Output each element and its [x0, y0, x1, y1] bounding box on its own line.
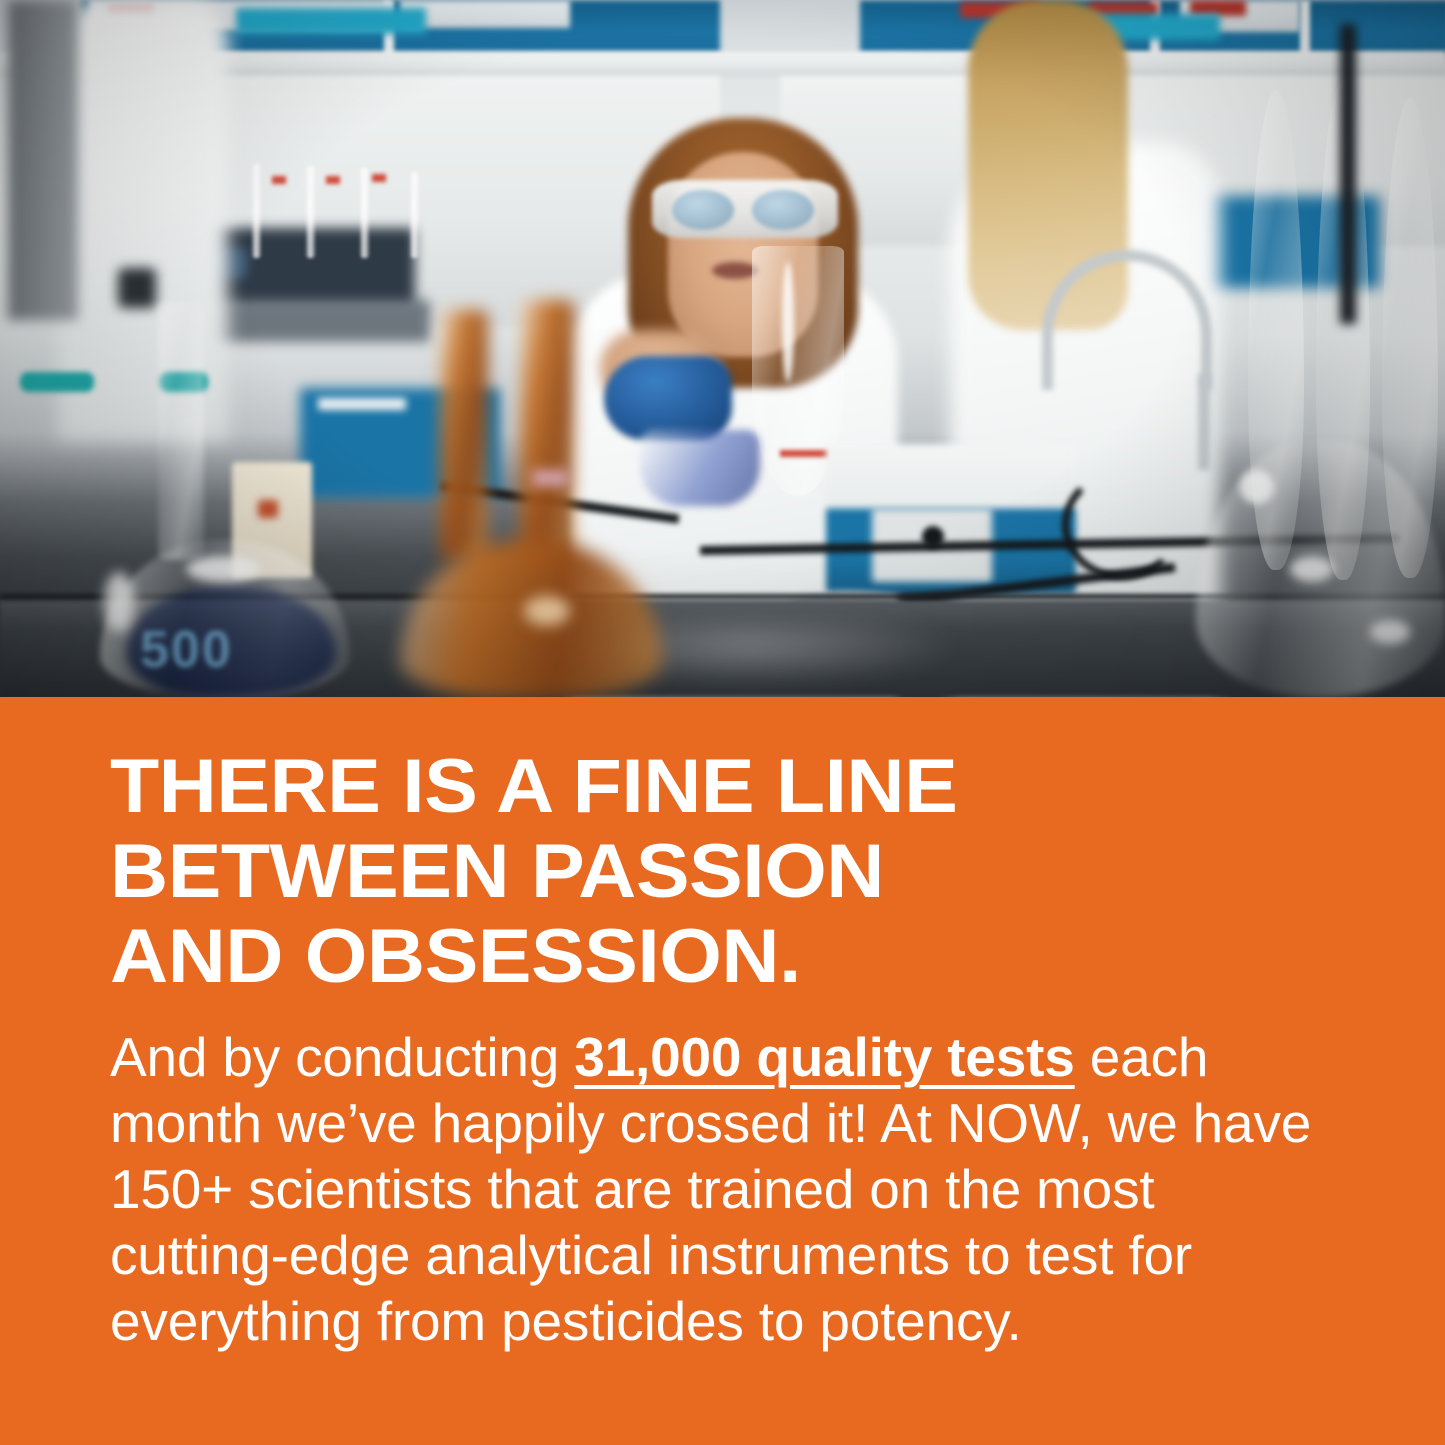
pipette-5	[410, 172, 419, 258]
cabinet-frame-2	[1300, 0, 1310, 58]
flask-highlight-500	[186, 556, 260, 582]
goggles-lens-left	[672, 190, 734, 230]
headline-line-1: THERE IS A FINE LINE	[110, 744, 1424, 829]
amber-flask-highlight	[524, 596, 570, 626]
flask-highlight-r1	[1240, 470, 1274, 504]
flask-highlight-r3	[1370, 620, 1410, 644]
flask-red-mark	[780, 450, 830, 457]
body-paragraph: And by conducting 31,000 quality tests e…	[110, 1024, 1325, 1354]
pipette-2	[252, 164, 261, 258]
quality-tests-emphasis: 31,000 quality tests	[574, 1026, 1074, 1088]
goggles-lens-right	[752, 190, 814, 230]
blue-nitrile-glove	[604, 356, 732, 440]
laboratory-photo: 500	[0, 0, 1445, 697]
pipette-red-mark-2	[326, 176, 340, 184]
flask-highlight-500b	[104, 572, 134, 632]
teal-capped-bottle-1	[20, 372, 94, 392]
amber-flask-neck-1	[440, 310, 488, 560]
beaker-with-blue-liquid	[640, 430, 760, 506]
orange-text-panel: THERE IS A FINE LINE BETWEEN PASSION AND…	[0, 697, 1445, 1445]
glassware-dark-gap	[1340, 24, 1356, 324]
flask-highlight-r2	[1290, 556, 1334, 582]
outlet-socket	[258, 500, 278, 518]
headline-line-3: AND OBSESSION.	[110, 914, 1424, 999]
body-text-part1: And by conducting	[110, 1026, 574, 1088]
cabinet-handle-1	[318, 398, 406, 410]
cabinet-teal-item-1	[236, 8, 426, 34]
flask-volume-label: 500	[140, 620, 233, 680]
left-vertical-column	[8, 0, 78, 320]
pipette-red-mark-1	[272, 176, 286, 184]
marketing-poster: 500 THERE IS A FINE LINE BETWEEN PASSION…	[0, 0, 1445, 1445]
headline-line-2: BETWEEN PASSION	[110, 829, 1424, 914]
amber-flask-neck-2	[520, 300, 574, 570]
flask-neck-500	[158, 302, 204, 560]
amber-flask-mark	[532, 470, 568, 486]
page-title: THERE IS A FINE LINE BETWEEN PASSION AND…	[110, 744, 1424, 999]
pipette-red-mark-3	[372, 174, 386, 182]
pipette-3	[306, 166, 315, 258]
pipette-4	[360, 168, 369, 258]
flask-highlight-center	[782, 262, 794, 382]
faucet-stem	[1198, 374, 1210, 470]
left-scientist-hand-object	[118, 268, 156, 308]
